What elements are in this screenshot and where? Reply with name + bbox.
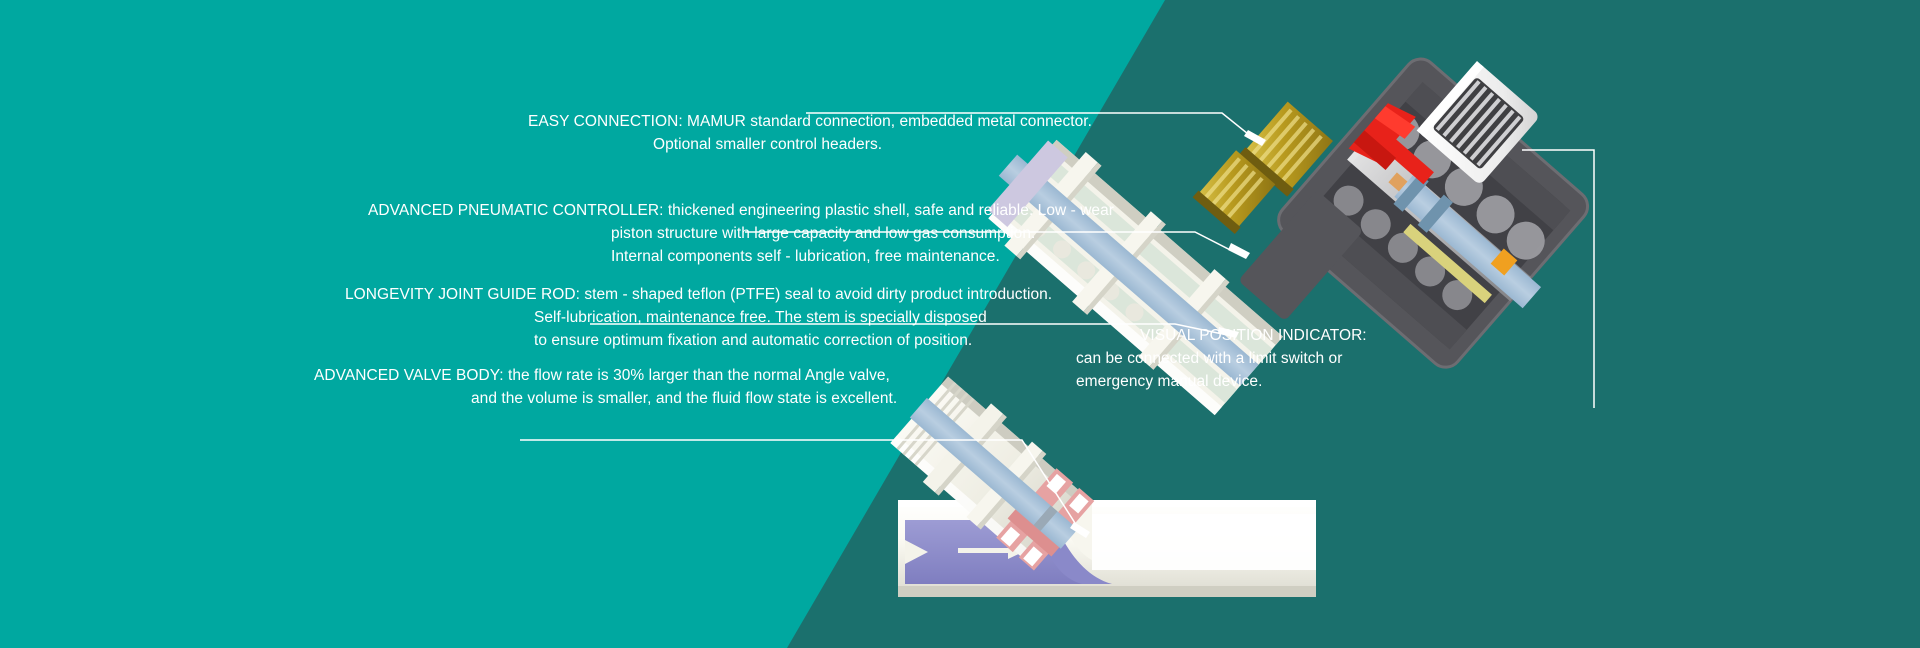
callout-line: LONGEVITY JOINT GUIDE ROD: stem - shaped… [345,283,1052,306]
callout-advanced-pneumatic-controller: ADVANCED PNEUMATIC CONTROLLER: thickened… [368,199,1114,268]
callout-line: emergency manual device. [1076,370,1367,393]
callout-line: Optional smaller control headers. [528,133,1092,156]
callout-line: and the volume is smaller, and the fluid… [314,387,897,410]
callout-line: to ensure optimum fixation and automatic… [345,329,1052,352]
callout-line: EASY CONNECTION: MAMUR standard connecti… [528,110,1092,133]
diagram-canvas: EASY CONNECTION: MAMUR standard connecti… [0,0,1920,648]
callout-line: ADVANCED VALVE BODY: the flow rate is 30… [314,364,897,387]
callout-line: piston structure with large capacity and… [368,222,1114,245]
leader-line-position-indicator [1522,150,1594,408]
arrowhead-pneumatic-controller [1228,243,1250,259]
callout-line: VISUAL POSITION INDICATOR: [1076,324,1367,347]
callout-visual-position-indicator: VISUAL POSITION INDICATOR: can be connec… [1076,324,1367,393]
callout-line: Self-lubrication, maintenance free. The … [345,306,1052,329]
callout-advanced-valve-body: ADVANCED VALVE BODY: the flow rate is 30… [314,364,897,410]
callout-line: ADVANCED PNEUMATIC CONTROLLER: thickened… [368,199,1114,222]
callout-easy-connection: EASY CONNECTION: MAMUR standard connecti… [528,110,1092,156]
callout-line: can be connected with a limit switch or [1076,347,1367,370]
arrowhead-easy-connection [1244,130,1266,146]
callout-line: Internal components self - lubrication, … [368,245,1114,268]
leader-line-valve-body [520,440,1082,534]
callout-longevity-joint-guide-rod: LONGEVITY JOINT GUIDE ROD: stem - shaped… [345,283,1052,352]
arrowhead-valve-body [1070,522,1090,538]
